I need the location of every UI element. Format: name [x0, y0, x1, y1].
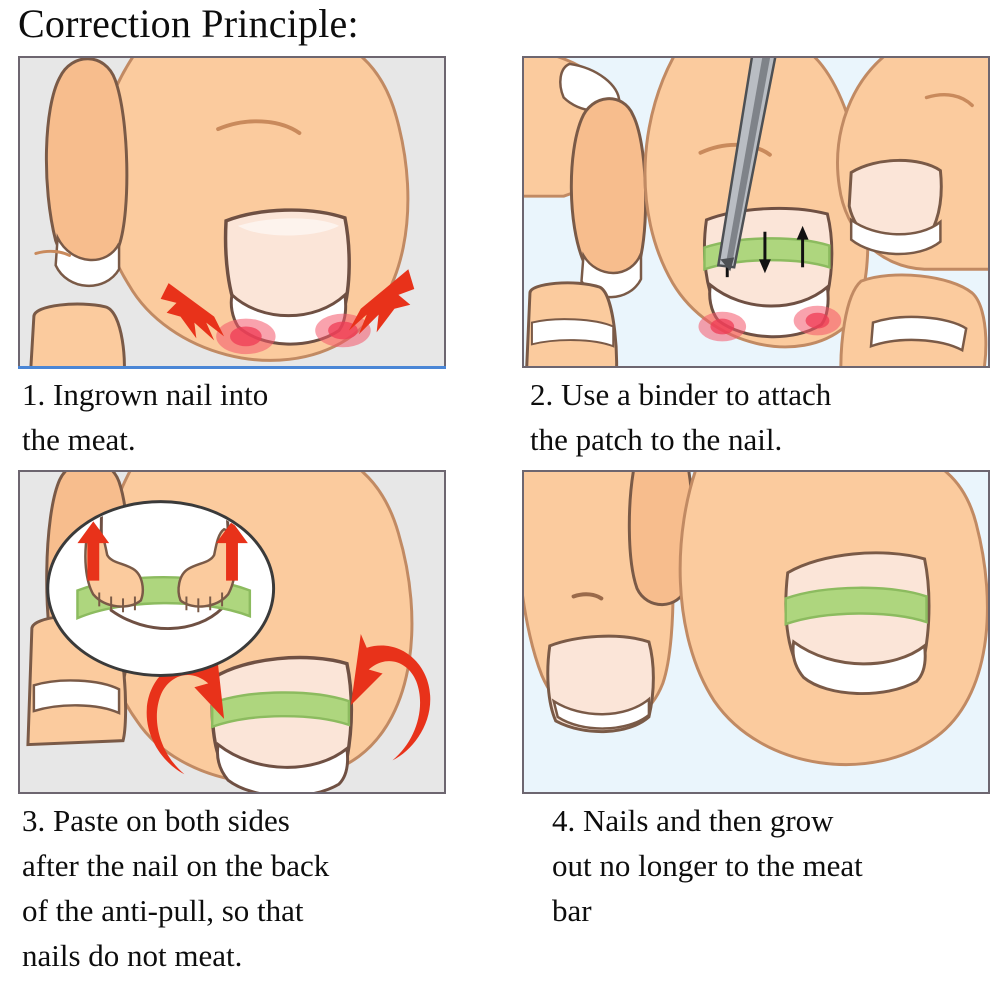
ingrown-nail-artwork — [20, 58, 444, 366]
step-2-caption: 2. Use a binder to attach the patch to t… — [530, 372, 1002, 462]
step-4-illustration-panel — [522, 470, 990, 794]
page-title: Correction Principle: — [18, 2, 359, 46]
anti-pull-patch-artwork — [20, 472, 444, 792]
step-1-illustration-panel — [18, 56, 446, 368]
binder-applying-patch-artwork — [524, 58, 988, 366]
step-4-caption: 4. Nails and then grow out no longer to … — [552, 798, 1002, 933]
step-2-illustration-panel — [522, 56, 990, 368]
step-3-illustration-panel — [18, 470, 446, 794]
step-1-caption: 1. Ingrown nail into the meat. — [22, 372, 492, 462]
step-3-caption: 3. Paste on both sides after the nail on… — [22, 798, 492, 978]
correction-principle-infographic: Correction Principle: — [0, 0, 1002, 1002]
healed-nail-artwork — [524, 472, 988, 792]
panel-1-blue-rule — [18, 366, 446, 369]
